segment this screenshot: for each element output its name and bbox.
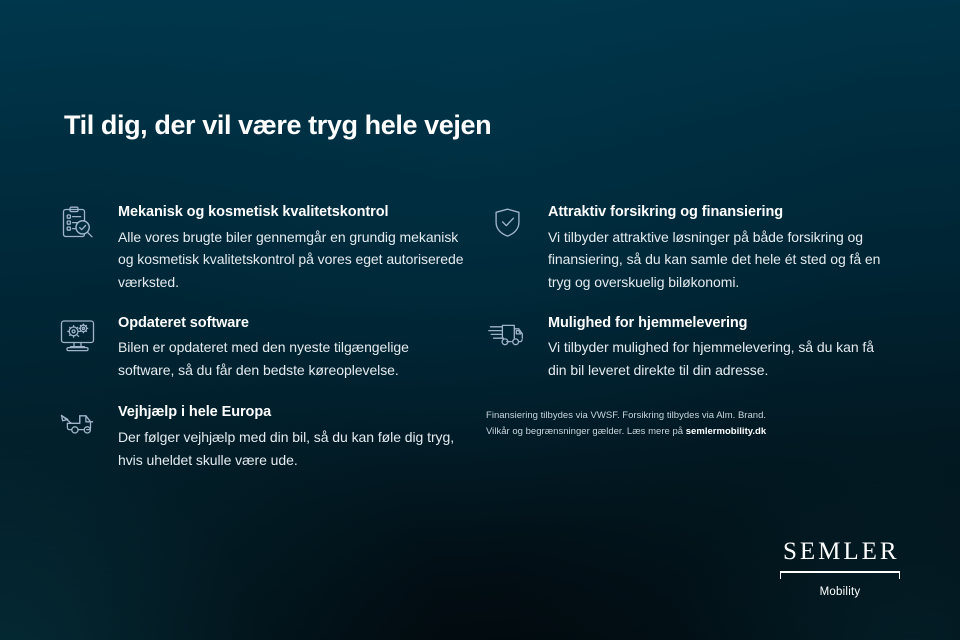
page-title: Til dig, der vil være tryg hele vejen [64, 110, 491, 141]
feature-title: Mekanisk og kosmetisk kvalitetskontrol [118, 203, 476, 223]
feature-body: Alle vores brugte biler gennemgår en gru… [118, 226, 466, 294]
feature-title: Opdateret software [118, 314, 476, 334]
logo-wordmark: SEMLER [778, 539, 902, 564]
feature-title: Attraktiv forsikring og finansiering [548, 203, 906, 223]
clipboard-search-icon [58, 206, 98, 242]
feature-item-opdateret-software: Opdateret software Bilen er opdateret me… [56, 314, 476, 382]
slide-content: Til dig, der vil være tryg hele vejen [0, 0, 960, 640]
fineprint-line-1: Finansiering tilbydes via VWSF. Forsikri… [486, 408, 886, 424]
tow-truck-icon [58, 406, 98, 442]
fineprint-line-2: Vilkår og begrænsninger gælder. Læs mere… [486, 424, 886, 440]
fineprint-line-2-text: Vilkår og begrænsninger gælder. Læs mere… [486, 426, 686, 437]
logo-bracket-rule [780, 571, 900, 580]
semler-mobility-logo: SEMLER Mobility [778, 539, 902, 598]
feature-item-kvalitetskontrol: Mekanisk og kosmetisk kvalitetskontrol A… [56, 203, 476, 294]
feature-column-right: Attraktiv forsikring og finansiering Vi … [486, 203, 906, 403]
feature-item-hjemmelevering: Mulighed for hjemmelevering Vi tilbyder … [486, 314, 906, 382]
monitor-gears-icon [58, 317, 98, 353]
delivery-truck-icon [488, 317, 528, 353]
shield-check-icon [488, 206, 528, 242]
feature-item-forsikring-finansiering: Attraktiv forsikring og finansiering Vi … [486, 203, 906, 294]
feature-body: Bilen er opdateret med den nyeste tilgæn… [118, 336, 466, 381]
fineprint-website-link[interactable]: semlermobility.dk [686, 426, 766, 437]
feature-title: Mulighed for hjemmelevering [548, 314, 906, 334]
feature-column-left: Mekanisk og kosmetisk kvalitetskontrol A… [56, 203, 476, 493]
feature-item-vejhjaelp: Vejhjælp i hele Europa Der følger vejhjæ… [56, 403, 476, 471]
fineprint-disclaimer: Finansiering tilbydes via VWSF. Forsikri… [486, 408, 886, 441]
feature-body: Vi tilbyder attraktive løsninger på både… [548, 226, 896, 294]
feature-title: Vejhjælp i hele Europa [118, 403, 476, 423]
logo-subtitle: Mobility [778, 586, 902, 598]
feature-body: Der følger vejhjælp med din bil, så du k… [118, 426, 466, 471]
feature-body: Vi tilbyder mulighed for hjemmelevering,… [548, 336, 896, 381]
